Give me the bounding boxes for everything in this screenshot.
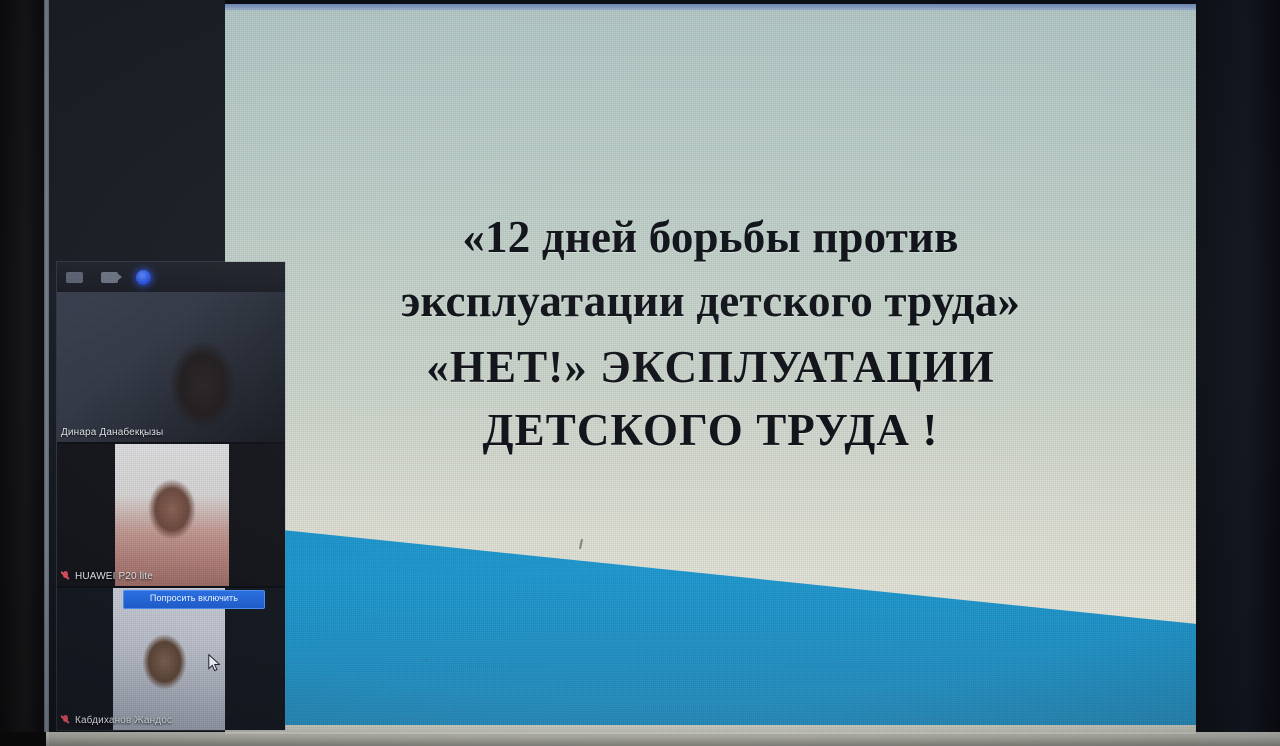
participant-name-badge: HUAWEI P20 lite: [61, 571, 153, 582]
monitor-bezel-left: [0, 0, 46, 746]
participant-video: [57, 292, 285, 442]
video-letterbox-left: [57, 444, 115, 586]
video-letterbox-left: [57, 588, 113, 730]
video-letterbox-right: [225, 588, 285, 730]
participant-name-badge: Кабдиханов Жандос: [61, 715, 172, 726]
slide-line-4: ДЕТСКОГО ТРУДА !: [251, 403, 1170, 459]
slide-line-3: «НЕТ!» ЭКСПЛУАТАЦИИ: [251, 340, 1170, 396]
screenshot-root: «12 дней борьбы против эксплуатации детс…: [0, 0, 1280, 746]
blue-dot-icon[interactable]: [136, 270, 151, 285]
monitor-screen: «12 дней борьбы против эксплуатации детс…: [49, 0, 1196, 734]
dust-speck-1: [579, 539, 583, 549]
monitor-bezel-bottom-left: [0, 732, 46, 746]
participant-tile[interactable]: Кабдиханов Жандос: [57, 588, 285, 730]
video-letterbox-right: [229, 444, 285, 586]
ask-to-unmute-button[interactable]: Попросить включить: [123, 590, 265, 609]
minimize-icon[interactable]: [66, 272, 83, 283]
video-call-window[interactable]: Динара Данабекқызы HUAWEI P20 lite: [57, 262, 285, 730]
participant-name: Динара Данабекқызы: [61, 427, 163, 438]
participant-name-badge: Динара Данабекқызы: [61, 427, 163, 438]
slide-blue-ribbon: [225, 494, 1196, 726]
slide-text-block: «12 дней борьбы против эксплуатации детс…: [225, 210, 1196, 459]
call-toolbar[interactable]: [57, 262, 285, 292]
call-backdrop-top: [49, 0, 225, 262]
camera-icon[interactable]: [101, 272, 118, 283]
slide-line-2: эксплуатации детского труда»: [251, 274, 1170, 330]
dust-speck-2: [425, 659, 427, 661]
monitor-bezel-bottom: [0, 732, 1280, 746]
monitor-bezel-right: [1196, 0, 1280, 746]
participant-tile[interactable]: Динара Данабекқызы: [57, 292, 285, 442]
participant-name: HUAWEI P20 lite: [75, 571, 153, 582]
participant-video: [115, 444, 229, 586]
presentation-slide: «12 дней борьбы против эксплуатации детс…: [225, 4, 1196, 734]
microphone-muted-icon: [61, 715, 70, 726]
participant-name: Кабдиханов Жандос: [75, 715, 172, 726]
microphone-muted-icon: [61, 571, 70, 582]
participant-tile[interactable]: HUAWEI P20 lite: [57, 444, 285, 586]
slide-top-band: [225, 4, 1196, 11]
slide-line-1: «12 дней борьбы против: [251, 210, 1170, 266]
